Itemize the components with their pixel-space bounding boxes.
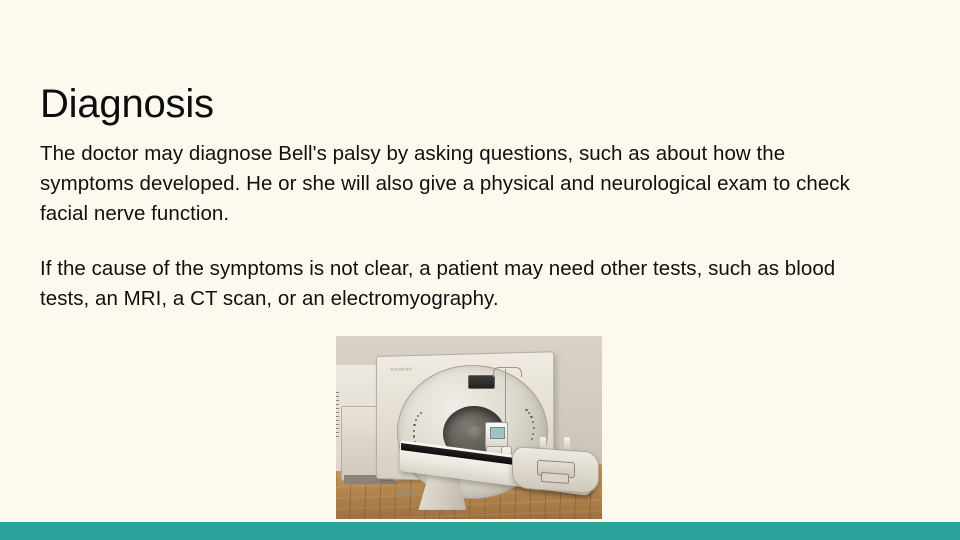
ct-scanner-photo: SIEMENS: [336, 336, 602, 519]
photo-scene: SIEMENS: [336, 336, 602, 519]
patient-table-head-end: [512, 446, 599, 494]
page-title: Diagnosis: [40, 81, 214, 127]
bore-highlight: [465, 426, 484, 441]
iv-pole-hook: [493, 367, 522, 377]
floor-vent: [393, 489, 417, 495]
scanner-brand-label: SIEMENS: [390, 366, 412, 372]
infusion-pump-screen: [490, 427, 506, 439]
gantry-display-panel: [468, 375, 495, 389]
paragraph-1: The doctor may diagnose Bell's palsy by …: [40, 139, 882, 229]
slide: Diagnosis The doctor may diagnose Bell's…: [0, 0, 960, 540]
gantry-indicator-dots-right: [510, 406, 534, 451]
wall-vent-grille: [336, 389, 339, 438]
bottom-accent-bar: [0, 522, 960, 540]
paragraph-2: If the cause of the symptoms is not clea…: [40, 254, 882, 314]
table-head-slot-lower: [541, 472, 569, 485]
body-text-block: The doctor may diagnose Bell's palsy by …: [40, 139, 882, 314]
